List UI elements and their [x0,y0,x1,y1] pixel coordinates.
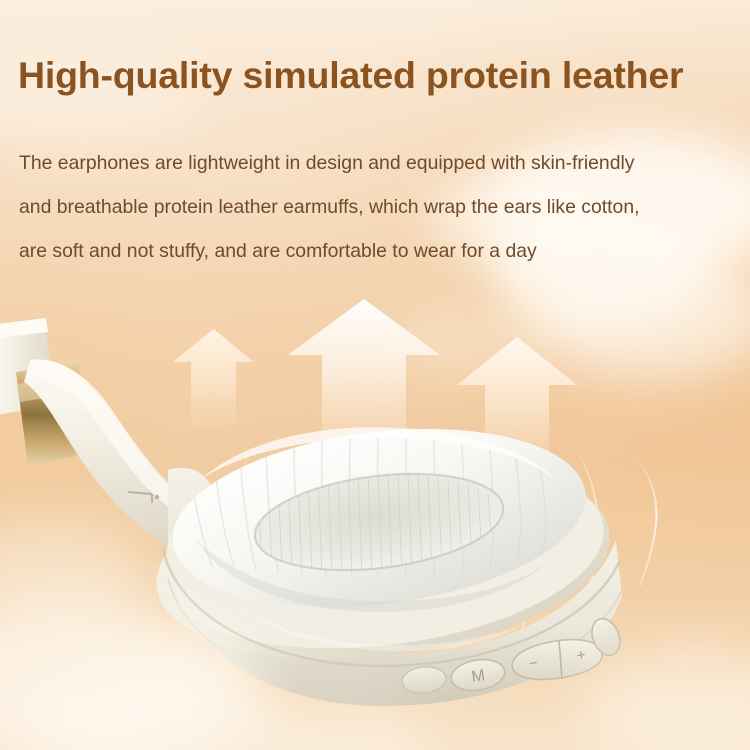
mode-button-glyph: M [470,667,486,686]
product-marketing-image: High-quality simulated protein leather T… [0,0,750,750]
